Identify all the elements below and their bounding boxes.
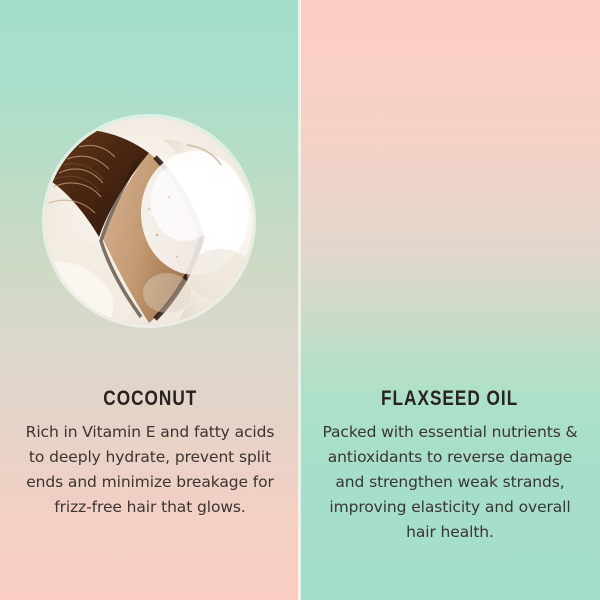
flaxseed-heading: FLAXSEED OIL (381, 388, 518, 409)
panel-divider (298, 0, 301, 600)
ingredient-comparison-infographic: COCONUT Rich in Vitamin E and fatty acid… (0, 0, 600, 600)
flaxseed-description: Packed with essential nutrients & antiox… (319, 420, 581, 545)
coconut-caption: COCONUT Rich in Vitamin E and fatty acid… (0, 388, 300, 520)
panel-coconut: COCONUT Rich in Vitamin E and fatty acid… (0, 0, 300, 600)
panel-flaxseed-oil: FLAXSEED OIL Packed with essential nutri… (300, 0, 600, 600)
coconut-heading: COCONUT (103, 388, 197, 409)
coconut-photo (45, 117, 253, 325)
flaxseed-caption: FLAXSEED OIL Packed with essential nutri… (300, 388, 600, 545)
coconut-description: Rich in Vitamin E and fatty acids to dee… (19, 420, 281, 520)
